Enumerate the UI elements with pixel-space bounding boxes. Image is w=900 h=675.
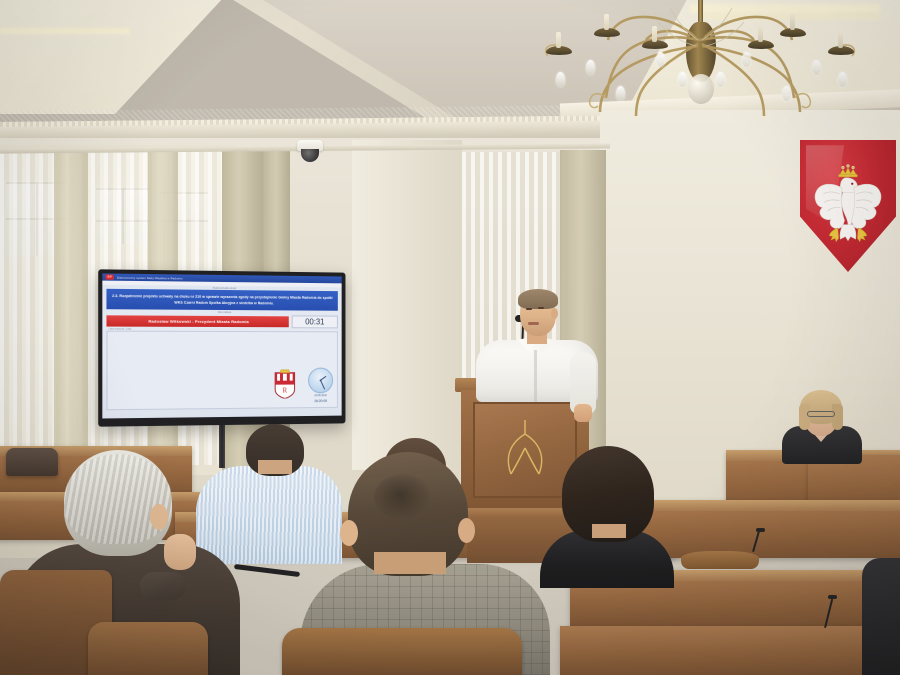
chandelier-crystal-4 xyxy=(838,72,847,87)
speaker-row: Radoslaw Witkowski - Prezydent Miasta Ra… xyxy=(106,314,337,328)
analog-clock-icon xyxy=(308,368,333,394)
person-audience-right-edge xyxy=(862,558,900,675)
audience-black-neck xyxy=(592,524,626,538)
desk-nameplate-1 xyxy=(681,551,759,569)
person-audience-black xyxy=(540,446,674,588)
chandelier-crystal-3 xyxy=(556,72,565,87)
chair-front-left-back xyxy=(88,622,208,675)
chandelier-candle-4 xyxy=(838,32,843,48)
radom-crest-group: R xyxy=(273,367,296,404)
chandelier-crystal-5 xyxy=(616,86,625,101)
audience-grey-hand xyxy=(164,534,196,570)
display-emblems: R 25.08.2022 16:20:09 xyxy=(273,367,333,404)
speakers-list-panel[interactable]: Lista mowcow / Lista xyxy=(106,331,337,411)
agenda-item-text: 2.3. Rozpatrzenie projektu uchwaly na dr… xyxy=(106,289,337,311)
chandelier-crystal-6 xyxy=(782,86,791,101)
speaker-name-banner: Radoslaw Witkowski - Prezydent Miasta Ra… xyxy=(106,315,288,327)
microphone-head-2 xyxy=(756,528,765,532)
clock-group: 25.08.2022 16:20:09 xyxy=(308,368,333,404)
clock-time: 16:20:09 xyxy=(308,399,333,403)
clock-date: 25.08.2022 xyxy=(308,394,333,398)
radom-coat-of-arms-icon: R xyxy=(273,367,296,399)
chandelier-crystal-9 xyxy=(716,72,725,87)
wall-pier-center xyxy=(352,140,462,470)
chandelier-candle-5 xyxy=(652,26,657,42)
chandelier-candle-6 xyxy=(758,26,763,42)
speaker-hair xyxy=(518,289,558,309)
white-eagle-icon xyxy=(805,158,891,250)
polish-coat-of-arms xyxy=(800,140,896,272)
chandelier-crystal-1 xyxy=(586,60,595,75)
audience-check-hair-swirl xyxy=(374,474,432,520)
display-badge: BIP xyxy=(105,274,113,279)
chandelier-candle-3 xyxy=(556,32,561,48)
chair-woman-hair-left xyxy=(799,404,810,430)
speaker-shirt-placket xyxy=(534,350,537,402)
chair-front-center xyxy=(282,628,522,675)
presentation-display[interactable]: BIP Elektroniczny system Rady Miejskiej … xyxy=(98,269,345,426)
council-chamber-photo: BIP Elektroniczny system Rady Miejskiej … xyxy=(0,0,900,675)
audience-grey-shoulder-seam xyxy=(140,572,186,600)
svg-text:R: R xyxy=(283,387,288,395)
clock-center-dot xyxy=(320,379,322,381)
audience-blue-neck xyxy=(258,460,292,474)
speaker-ear xyxy=(551,308,558,319)
bench-row-front-lower xyxy=(560,626,900,675)
speakers-list-caption: Lista mowcow / Lista xyxy=(109,328,132,331)
chair-woman-glasses xyxy=(807,411,835,417)
cable-1 xyxy=(234,564,300,577)
audience-grey-ear xyxy=(150,504,168,530)
chandelier-crystal-8 xyxy=(742,52,751,67)
clock-minute-hand xyxy=(320,380,325,389)
speech-timer: 00:31 xyxy=(292,315,338,328)
chandelier-arms xyxy=(520,0,880,118)
person-chair-woman xyxy=(779,388,865,460)
chandelier-candle-1 xyxy=(604,14,609,30)
chandelier-crystal-2 xyxy=(812,60,821,75)
cove-light-left xyxy=(0,28,130,34)
chandelier xyxy=(520,0,880,118)
audience-check-ear-right xyxy=(458,518,475,543)
chandelier-candle-2 xyxy=(790,14,795,30)
display-header-title: Elektroniczny system Rady Miejskiej w Ra… xyxy=(117,275,183,280)
microphone-head-3 xyxy=(828,595,837,599)
audience-check-neck xyxy=(374,552,446,574)
display-screen[interactable]: BIP Elektroniczny system Rady Miejskiej … xyxy=(102,273,341,418)
speaker-mouth xyxy=(528,322,539,325)
speaker-hand-right xyxy=(574,404,592,422)
chair-woman-hair-right xyxy=(832,404,843,430)
audience-grey-hair-strands xyxy=(64,454,172,544)
audience-check-ear-left xyxy=(340,520,358,546)
chandelier-crystal-7 xyxy=(656,52,665,67)
audience-right-edge-torso xyxy=(862,558,900,675)
chandelier-crystal-10 xyxy=(678,72,687,87)
drape-panel-1 xyxy=(54,150,88,468)
